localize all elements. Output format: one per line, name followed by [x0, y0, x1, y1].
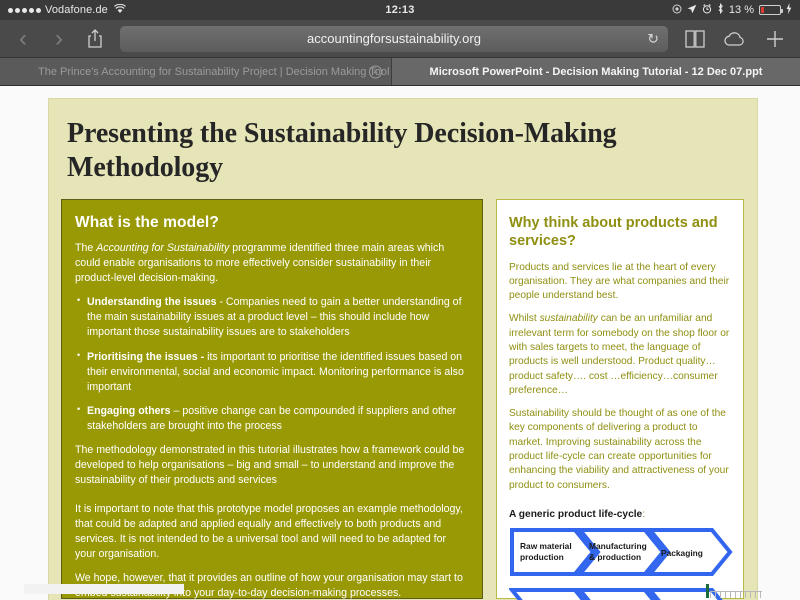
lifecycle-row-2-svg: Distribution Use End of life management [509, 587, 733, 600]
share-icon[interactable] [84, 29, 106, 49]
right-paragraph-3: Sustainability should be thought of as o… [509, 407, 731, 493]
right-content-box: Why think about products and services? P… [496, 199, 744, 599]
new-tab-button[interactable] [762, 29, 788, 49]
navigation-arrow-icon [687, 4, 697, 17]
step-label-manufacturing-line2: & production [589, 552, 641, 562]
plus-icon [765, 29, 785, 49]
scale-marker [706, 584, 709, 598]
browser-toolbar: ‹ › accountingforsustainability.org ↻ [0, 20, 800, 58]
right-paragraph-1: Products and services lie at the heart o… [509, 261, 731, 304]
status-bar-right: 13 % [672, 3, 792, 17]
ios-status-bar: Vodafone.de 12:13 13 % [0, 0, 800, 20]
battery-icon [759, 5, 781, 15]
page-zoom-scale-indicator[interactable] [706, 584, 762, 598]
reload-icon[interactable]: ↻ [647, 30, 659, 47]
lifecycle-row-2: Distribution Use End of life management [509, 587, 731, 600]
bluetooth-icon [717, 3, 724, 17]
lifecycle-caption-colon: : [642, 509, 645, 520]
battery-fill [761, 7, 764, 13]
lifecycle-caption: A generic product life-cycle: [509, 509, 731, 520]
address-bar[interactable]: accountingforsustainability.org ↻ [120, 26, 668, 52]
step-label-raw-material-line1: Raw material [520, 541, 572, 551]
lightning-bolt-icon [786, 3, 792, 17]
lifecycle-row-1: Raw material production Manufacturing & … [509, 527, 731, 577]
paragraph-prototype: It is important to note that this protot… [75, 502, 469, 562]
tab-title: Microsoft PowerPoint - Decision Making T… [430, 66, 763, 78]
intro-pre: The [75, 242, 96, 254]
bullet-lead: Prioritising the issues - [87, 351, 204, 363]
web-page-viewport[interactable]: Presenting the Sustainability Decision-M… [0, 86, 800, 600]
scale-ruler [710, 591, 762, 598]
bookmarks-icon-svg [685, 30, 705, 48]
tab-bar: The Prince's Accounting for Sustainabili… [0, 58, 800, 86]
bullet-lead: Understanding the issues [87, 296, 217, 308]
left-panel-intro: The Accounting for Sustainability progra… [75, 241, 469, 286]
lifecycle-row-1-svg: Raw material production Manufacturing & … [509, 527, 733, 577]
page-bottom-left-strip [24, 584, 184, 594]
url-text: accountingforsustainability.org [307, 31, 481, 46]
right-panel-heading: Why think about products and services? [509, 214, 731, 250]
bullet-engaging-others: Engaging others – positive change can be… [75, 404, 469, 434]
forward-button[interactable]: › [48, 27, 70, 51]
paragraph-methodology: The methodology demonstrated in this tut… [75, 443, 469, 488]
step-label-raw-material-line2: production [520, 552, 564, 562]
alarm-clock-icon [702, 4, 712, 17]
step-label-packaging: Packaging [661, 548, 703, 558]
slide-columns: What is the model? The Accounting for Su… [49, 185, 757, 599]
battery-percentage: 13 % [729, 4, 754, 16]
para2-post: can be an unfamiliar and irrelevant term… [509, 313, 729, 395]
tab-powerpoint-document[interactable]: Microsoft PowerPoint - Decision Making T… [392, 58, 800, 85]
step-label-manufacturing-line1: Manufacturing [589, 541, 647, 551]
bookmarks-book-icon[interactable] [682, 30, 708, 48]
lifecycle-caption-bold: A generic product life-cycle [509, 509, 642, 520]
intro-emphasis: Accounting for Sustainability [96, 242, 229, 254]
cloud-icon-svg [723, 31, 747, 47]
para2-pre: Whilst [509, 313, 540, 324]
bullet-prioritising-the-issues: Prioritising the issues - its important … [75, 350, 469, 395]
tab-sustainability-project[interactable]: The Prince's Accounting for Sustainabili… [0, 58, 392, 85]
close-icon[interactable]: × [369, 65, 382, 78]
right-paragraph-2: Whilst sustainability can be an unfamili… [509, 312, 731, 398]
bullet-lead: Engaging others [87, 405, 171, 417]
tab-title: The Prince's Accounting for Sustainabili… [38, 66, 389, 78]
para2-emphasis: sustainability [540, 313, 598, 324]
slide-title: Presenting the Sustainability Decision-M… [49, 99, 757, 185]
presentation-slide: Presenting the Sustainability Decision-M… [48, 98, 758, 600]
icloud-tabs-icon[interactable] [722, 31, 748, 47]
bullet-understanding-the-issues: Understanding the issues - Companies nee… [75, 295, 469, 340]
share-icon-svg [87, 29, 103, 49]
location-services-icon [672, 4, 682, 17]
back-button[interactable]: ‹ [12, 27, 34, 51]
left-panel-heading: What is the model? [75, 214, 469, 232]
left-content-box: What is the model? The Accounting for Su… [61, 199, 483, 599]
